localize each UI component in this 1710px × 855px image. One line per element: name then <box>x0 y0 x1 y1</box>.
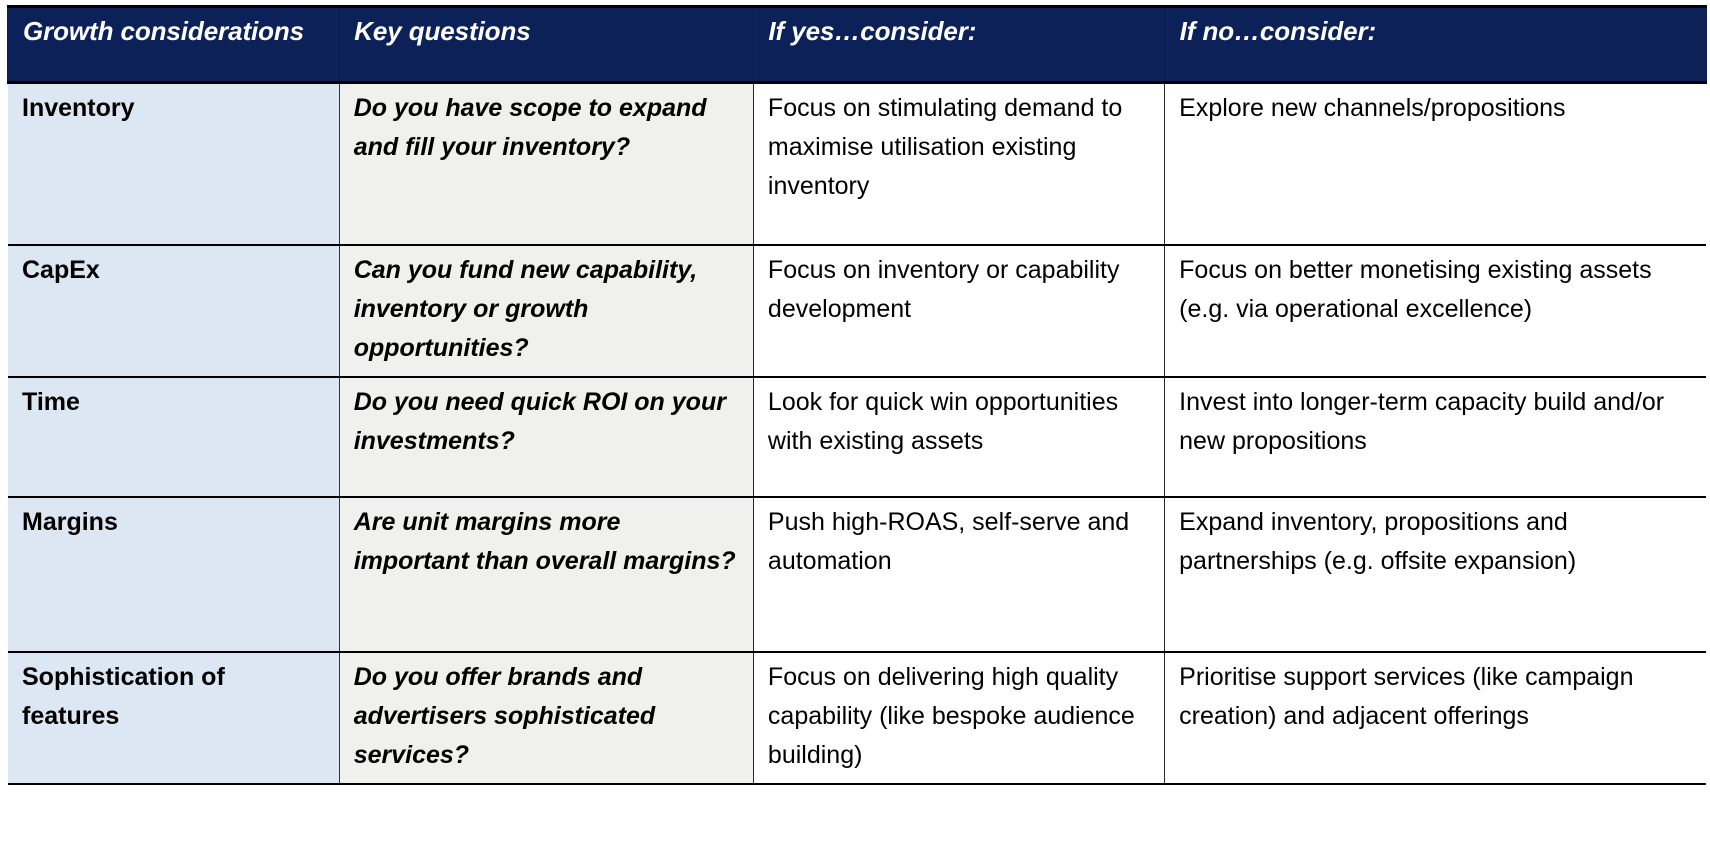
cell-key-question: Do you offer brands and advertisers soph… <box>339 652 753 784</box>
cell-consideration: Time <box>8 377 339 497</box>
column-header-if-no: If no…consider: <box>1165 7 1706 83</box>
if-yes-text: Focus on stimulating demand to maximise … <box>768 89 1150 206</box>
key-question-text: Do you offer brands and advertisers soph… <box>354 658 739 775</box>
consideration-label: Inventory <box>22 89 325 128</box>
cell-if-no: Expand inventory, propositions and partn… <box>1165 497 1706 652</box>
key-question-text: Do you need quick ROI on your investment… <box>354 383 739 461</box>
cell-if-yes: Focus on inventory or capability develop… <box>753 245 1164 377</box>
if-no-text: Explore new channels/propositions <box>1179 89 1692 128</box>
if-no-text: Invest into longer-term capacity build a… <box>1179 383 1692 461</box>
cell-if-no: Explore new channels/propositions <box>1165 83 1706 245</box>
table-row: Sophistication of features Do you offer … <box>8 652 1706 784</box>
if-yes-text: Push high-ROAS, self-serve and automatio… <box>768 503 1150 581</box>
column-header-if-yes: If yes…consider: <box>753 7 1164 83</box>
table-row: Time Do you need quick ROI on your inves… <box>8 377 1706 497</box>
cell-consideration: Margins <box>8 497 339 652</box>
table-row: Inventory Do you have scope to expand an… <box>8 83 1706 245</box>
consideration-label: Time <box>22 383 325 422</box>
table-row: CapEx Can you fund new capability, inven… <box>8 245 1706 377</box>
cell-key-question: Do you have scope to expand and fill you… <box>339 83 753 245</box>
table-row: Margins Are unit margins more important … <box>8 497 1706 652</box>
if-yes-text: Look for quick win opportunities with ex… <box>768 383 1150 461</box>
growth-considerations-table-container: Growth considerations Key questions If y… <box>0 5 1710 855</box>
if-yes-text: Focus on delivering high quality capabil… <box>768 658 1150 775</box>
cell-if-yes: Focus on stimulating demand to maximise … <box>753 83 1164 245</box>
key-question-text: Can you fund new capability, inventory o… <box>354 251 739 368</box>
cell-if-no: Prioritise support services (like campai… <box>1165 652 1706 784</box>
cell-if-yes: Focus on delivering high quality capabil… <box>753 652 1164 784</box>
cell-key-question: Are unit margins more important than ove… <box>339 497 753 652</box>
consideration-label: Sophistication of features <box>22 658 325 736</box>
key-question-text: Are unit margins more important than ove… <box>354 503 739 581</box>
cell-if-yes: Push high-ROAS, self-serve and automatio… <box>753 497 1164 652</box>
table-header: Growth considerations Key questions If y… <box>8 7 1706 83</box>
cell-consideration: CapEx <box>8 245 339 377</box>
cell-if-no: Invest into longer-term capacity build a… <box>1165 377 1706 497</box>
cell-consideration: Sophistication of features <box>8 652 339 784</box>
table-header-row: Growth considerations Key questions If y… <box>8 7 1706 83</box>
cell-key-question: Do you need quick ROI on your investment… <box>339 377 753 497</box>
if-yes-text: Focus on inventory or capability develop… <box>768 251 1150 329</box>
key-question-text: Do you have scope to expand and fill you… <box>354 89 739 167</box>
if-no-text: Expand inventory, propositions and partn… <box>1179 503 1692 581</box>
cell-if-no: Focus on better monetising existing asse… <box>1165 245 1706 377</box>
cell-consideration: Inventory <box>8 83 339 245</box>
column-header-key-questions: Key questions <box>339 7 753 83</box>
table-body: Inventory Do you have scope to expand an… <box>8 83 1706 784</box>
cell-if-yes: Look for quick win opportunities with ex… <box>753 377 1164 497</box>
consideration-label: CapEx <box>22 251 325 290</box>
consideration-label: Margins <box>22 503 325 542</box>
if-no-text: Prioritise support services (like campai… <box>1179 658 1692 736</box>
if-no-text: Focus on better monetising existing asse… <box>1179 251 1692 329</box>
column-header-growth-considerations: Growth considerations <box>8 7 339 83</box>
growth-considerations-table: Growth considerations Key questions If y… <box>7 5 1707 785</box>
cell-key-question: Can you fund new capability, inventory o… <box>339 245 753 377</box>
